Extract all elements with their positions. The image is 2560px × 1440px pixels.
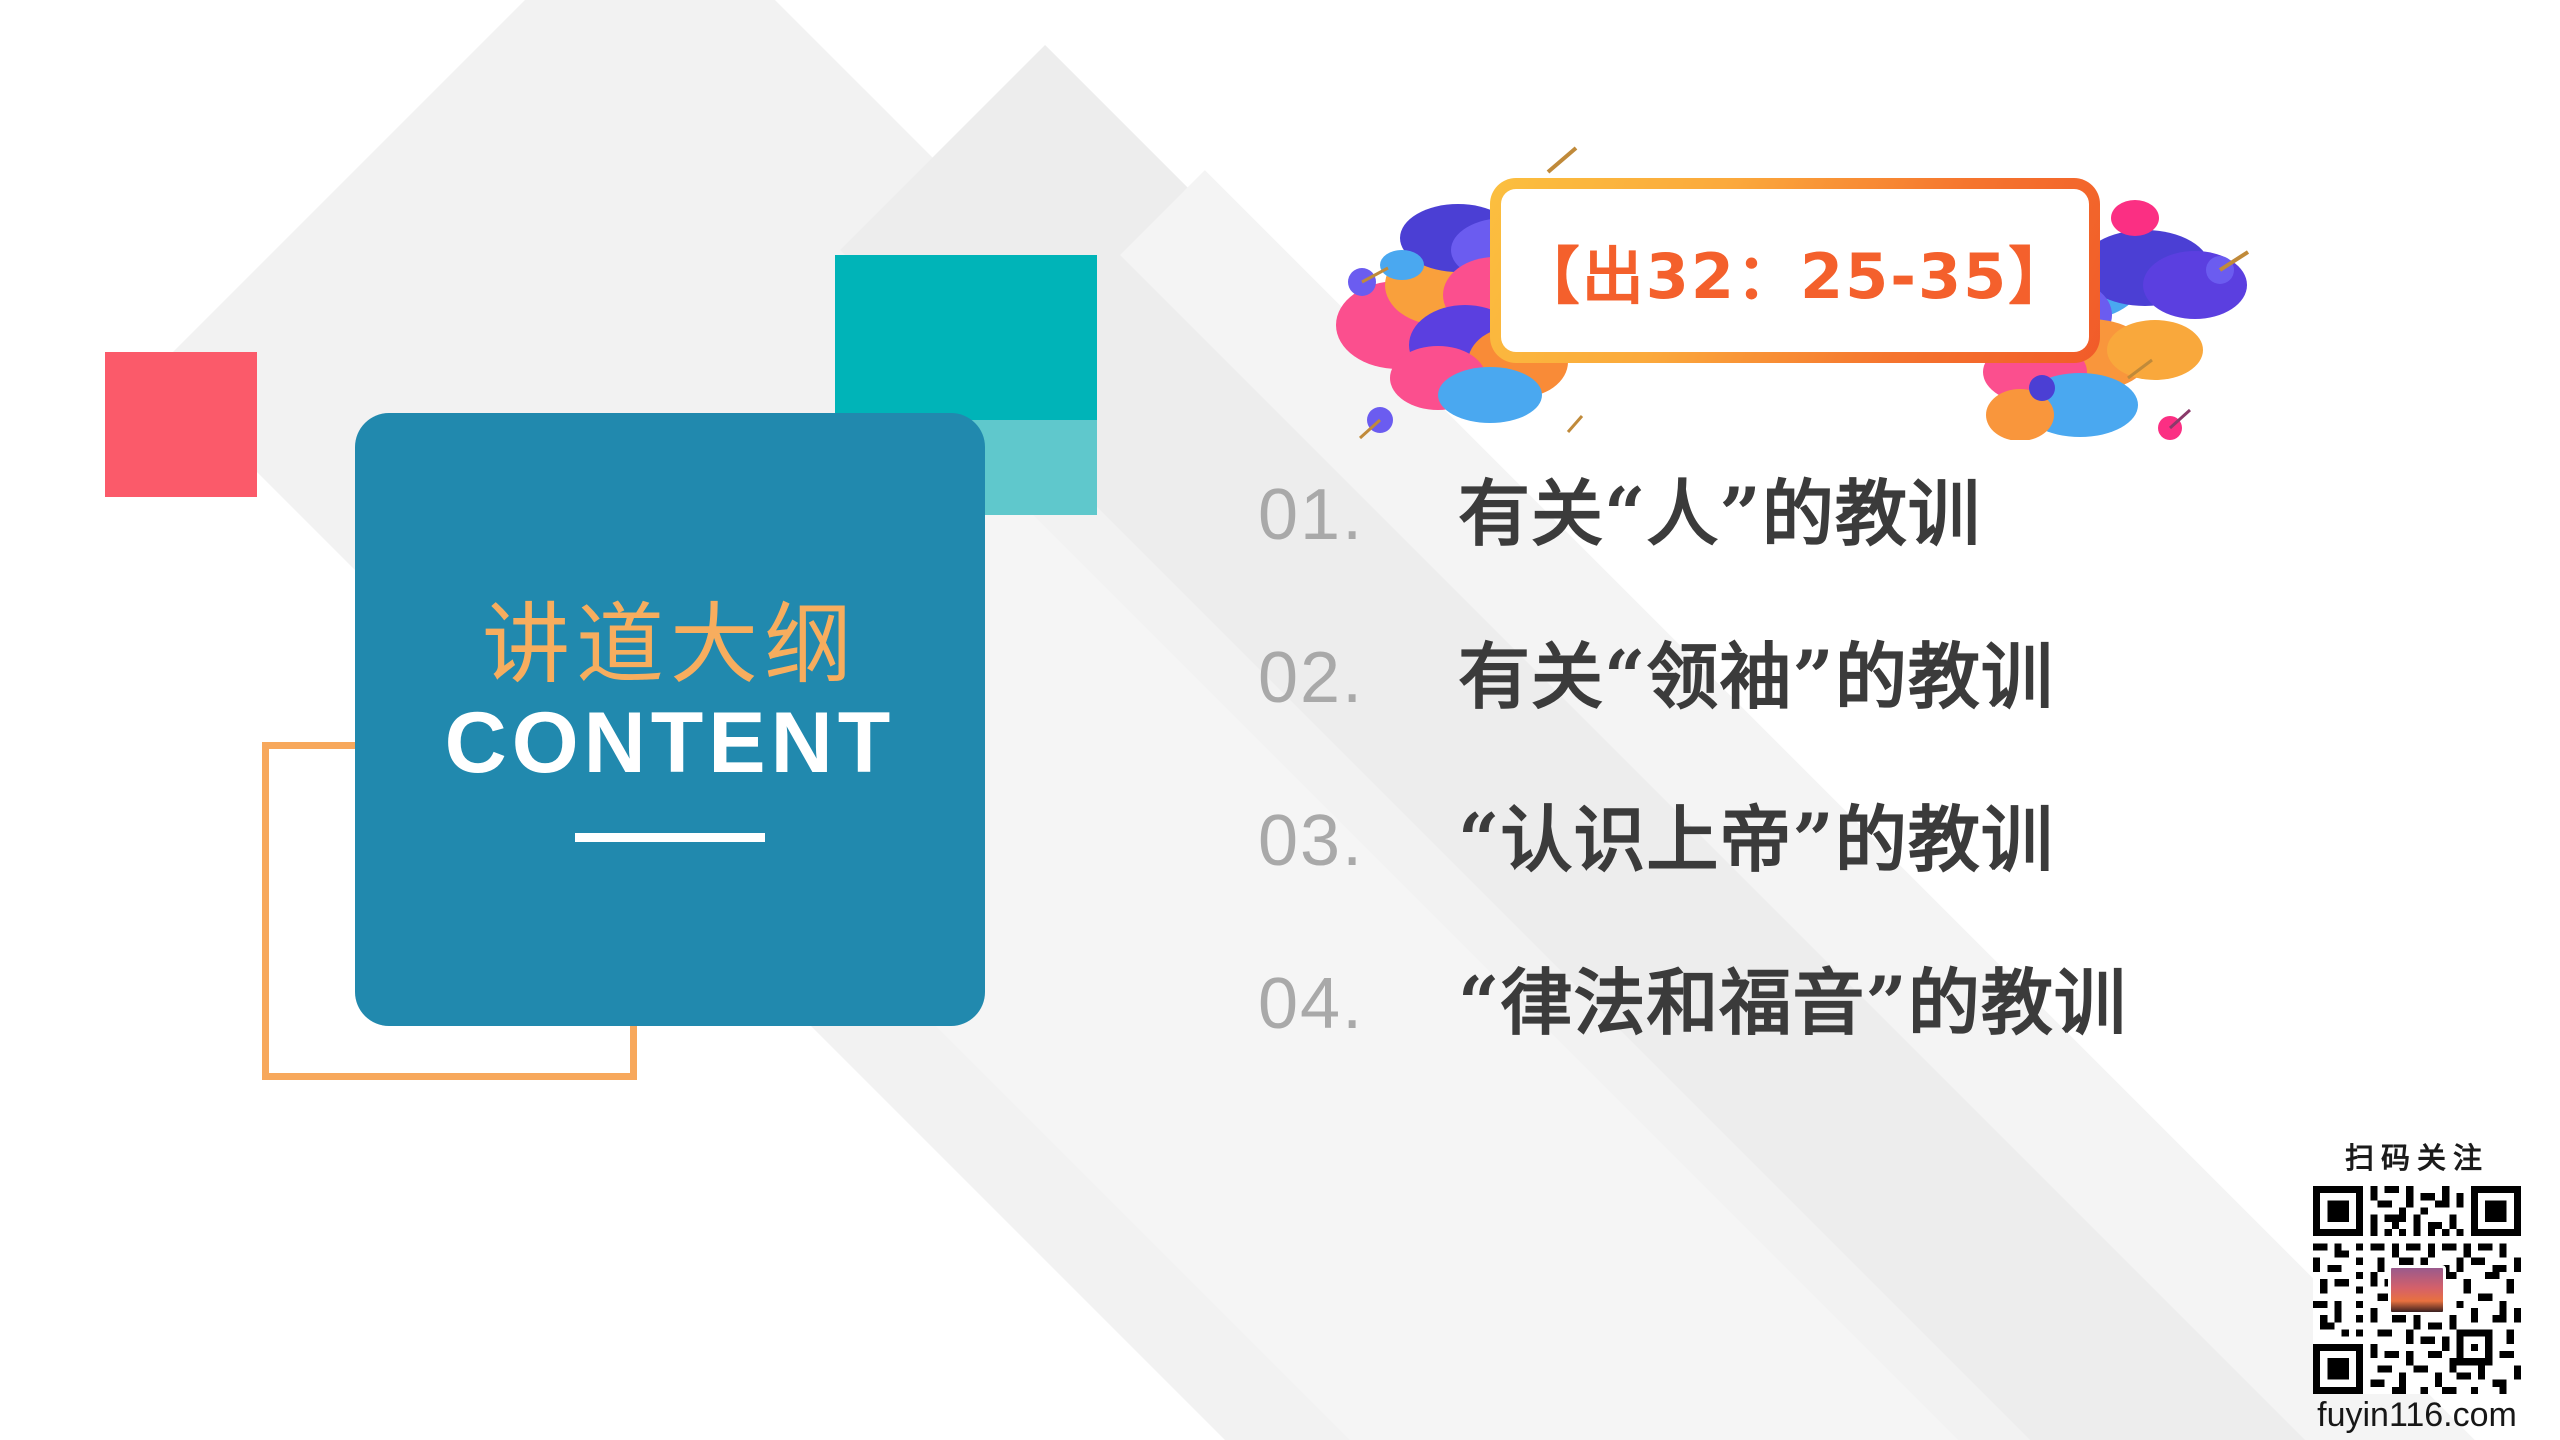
outline-label: “认识上帝”的教训 <box>1458 781 2054 886</box>
outline-item-03[interactable]: 03. “认识上帝”的教训 <box>1258 781 2438 944</box>
outline-label: “律法和福音”的教训 <box>1458 944 2127 1049</box>
qr-url: fuyin116.com <box>2317 1396 2517 1435</box>
outline-item-01[interactable]: 01. 有关“人”的教训 <box>1258 455 2438 618</box>
content-card-title-en: CONTENT <box>445 698 896 788</box>
outline-label: 有关“领袖”的教训 <box>1458 618 2054 723</box>
verse-reference-box: 【出32：25-35】 <box>1490 178 2100 363</box>
content-card-divider <box>575 833 765 842</box>
content-card: 讲道大纲 CONTENT <box>355 413 985 1026</box>
qr-code-block: 扫码关注 <box>2293 1135 2541 1435</box>
content-card-title-cn: 讲道大纲 <box>482 597 858 694</box>
qr-center-logo <box>2388 1265 2446 1315</box>
outline-number: 01. <box>1258 474 1458 556</box>
qr-caption: 扫码关注 <box>2345 1135 2489 1177</box>
outline-item-04[interactable]: 04. “律法和福音”的教训 <box>1258 944 2438 1107</box>
outline-number: 04. <box>1258 963 1458 1045</box>
qr-code-image[interactable] <box>2313 1186 2521 1394</box>
verse-reference-banner: 【出32：25-35】 <box>1380 170 2190 380</box>
outline-list: 01. 有关“人”的教训 02. 有关“领袖”的教训 03. “认识上帝”的教训… <box>1258 455 2438 1107</box>
verse-reference-text: 【出32：25-35】 <box>1518 226 2073 316</box>
outline-number: 03. <box>1258 800 1458 882</box>
outline-number: 02. <box>1258 637 1458 719</box>
outline-label: 有关“人”的教训 <box>1458 455 1981 560</box>
decorative-red-square <box>105 352 257 497</box>
outline-item-02[interactable]: 02. 有关“领袖”的教训 <box>1258 618 2438 781</box>
